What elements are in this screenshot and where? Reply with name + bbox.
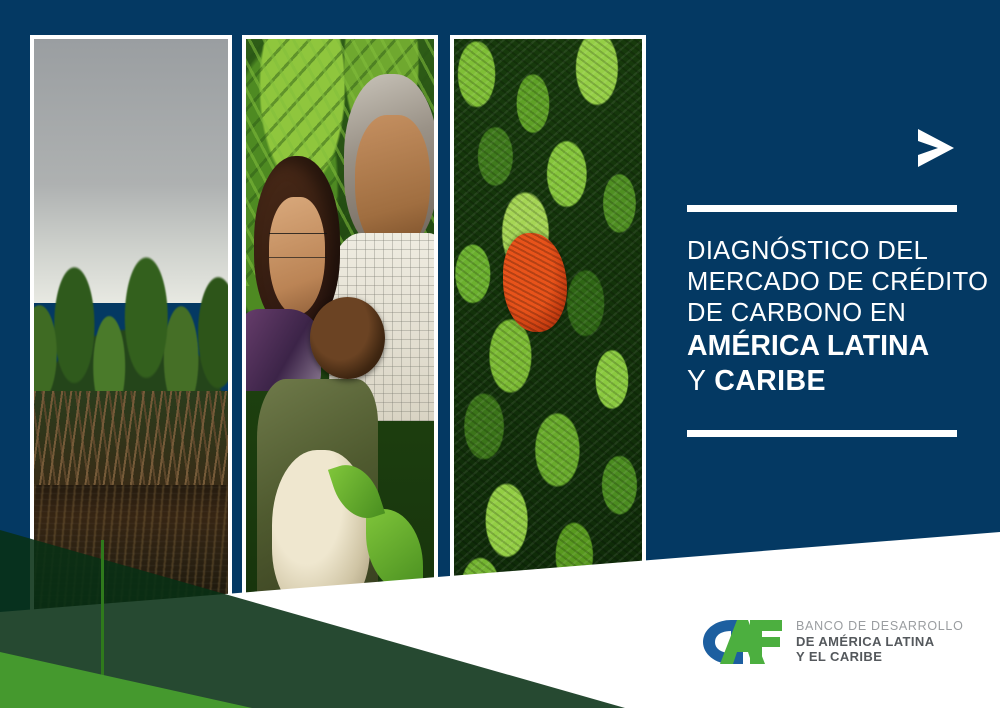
cover-title-block: DIAGNÓSTICO DEL MERCADO DE CRÉDITO DE CA… bbox=[687, 205, 957, 399]
title-line-4: AMÉRICA LATINA bbox=[687, 329, 957, 364]
mangrove-photo-art bbox=[34, 39, 228, 626]
title-line-1: DIAGNÓSTICO DEL bbox=[687, 236, 957, 267]
mangrove-forest-photo bbox=[30, 35, 232, 630]
title-rule-top bbox=[687, 205, 957, 212]
title-line-5-bold: CARIBE bbox=[714, 365, 826, 397]
report-cover: DIAGNÓSTICO DEL MERCADO DE CRÉDITO DE CA… bbox=[0, 0, 1000, 708]
caf-logo: BANCO DE DESARROLLO DE AMÉRICA LATINA Y … bbox=[700, 617, 964, 667]
trunks-region bbox=[34, 391, 228, 497]
title-line-5-prefix: Y bbox=[687, 365, 714, 397]
logo-line-3: Y EL CARIBE bbox=[796, 649, 964, 664]
title-line-2: MERCADO DE CRÉDITO bbox=[687, 267, 957, 298]
canopy-texture bbox=[454, 39, 642, 626]
soil-handful bbox=[310, 297, 385, 379]
logo-line-2: DE AMÉRICA LATINA bbox=[796, 634, 964, 649]
glasses-icon bbox=[269, 233, 327, 258]
title-line-3: DE CARBONO EN bbox=[687, 298, 957, 329]
canopy-photo-art bbox=[454, 39, 642, 626]
caf-logo-mark bbox=[700, 617, 784, 667]
title-rule-bottom bbox=[687, 430, 957, 437]
caf-logo-text: BANCO DE DESARROLLO DE AMÉRICA LATINA Y … bbox=[796, 619, 964, 664]
title-line-5: Y CARIBE bbox=[687, 364, 957, 399]
logo-line-1: BANCO DE DESARROLLO bbox=[796, 619, 964, 634]
farmers-soil-photo bbox=[242, 35, 438, 630]
chevron-right-icon bbox=[912, 124, 960, 172]
farmers-photo-art bbox=[246, 39, 434, 626]
aerial-canopy-photo bbox=[450, 35, 646, 630]
